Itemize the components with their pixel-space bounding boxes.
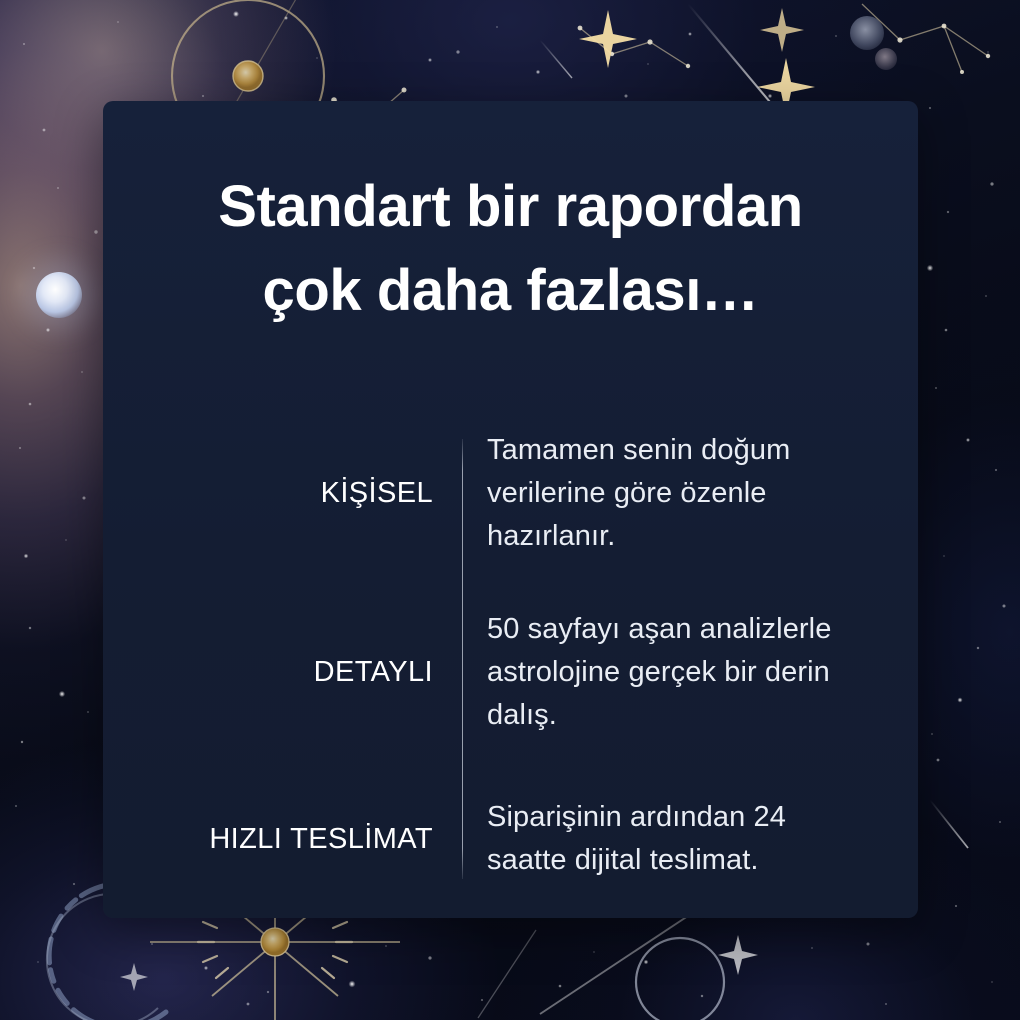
content-card: Standart bir rapordan çok daha fazlası… … (103, 101, 918, 918)
feature-divider (462, 439, 463, 878)
feature-label-hizli-teslimat: HIZLI TESLİMAT (153, 821, 461, 857)
feature-row-detayli: DETAYLI 50 sayfayı aşan analizlerle astr… (153, 608, 868, 737)
feature-list: KİŞİSEL Tamamen senin doğum verilerine g… (153, 429, 868, 890)
page-title: Standart bir rapordan çok daha fazlası… (153, 165, 868, 333)
feature-row-kisisel: KİŞİSEL Tamamen senin doğum verilerine g… (153, 429, 868, 558)
feature-label-detayli: DETAYLI (153, 654, 461, 690)
feature-text-hizli-teslimat: Siparişinin ardından 24 saatte dijital t… (461, 796, 868, 882)
poster-canvas: Standart bir rapordan çok daha fazlası… … (0, 0, 1020, 1020)
feature-text-kisisel: Tamamen senin doğum verilerine göre özen… (461, 429, 868, 558)
card-content: Standart bir rapordan çok daha fazlası… … (103, 101, 918, 918)
feature-row-hizli-teslimat: HIZLI TESLİMAT Siparişinin ardından 24 s… (153, 787, 868, 891)
feature-label-kisisel: KİŞİSEL (153, 475, 461, 511)
feature-text-detayli: 50 sayfayı aşan analizlerle astrolojine … (461, 608, 868, 737)
